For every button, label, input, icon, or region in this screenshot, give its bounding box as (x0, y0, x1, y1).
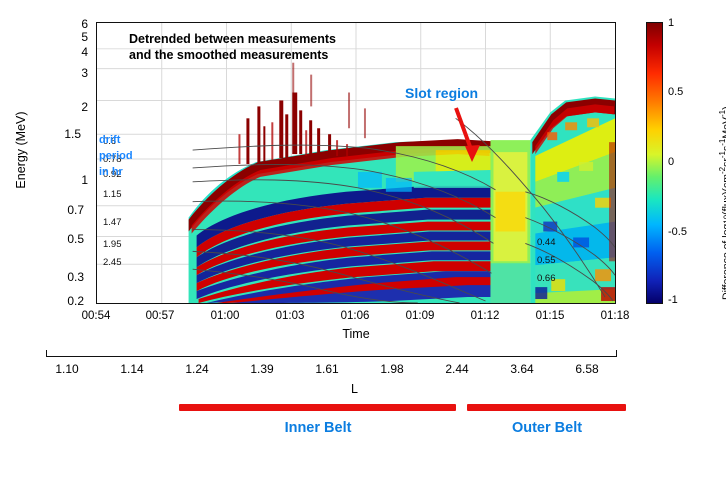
contour-label: 2.45 (103, 257, 122, 268)
colorbar-tick-label: 1 (668, 17, 674, 29)
l-tick-label: 1.98 (367, 362, 417, 376)
contour-label: 0.66 (537, 273, 556, 284)
x-tick-label: 01:06 (328, 310, 382, 322)
colorbar-title-text5: MeV (721, 117, 726, 139)
contour-label: 0.55 (537, 255, 556, 266)
y-tick-label: 6 (48, 17, 88, 31)
colorbar-title-exp4: -1 (718, 110, 726, 117)
colorbar-title-text4: s (721, 146, 726, 151)
colorbar-title-exp1: -2 (718, 167, 726, 174)
y-tick-label: 2 (48, 100, 88, 114)
x-tick-label: 01:12 (458, 310, 512, 322)
heatmap-plot: 0.6 0.78 0.92 1.15 1.47 1.95 2.45 0.44 0… (96, 22, 616, 304)
slot-region-label: Slot region (405, 85, 478, 101)
y-tick-label: 5 (48, 30, 88, 44)
x-tick-label: 00:54 (69, 310, 123, 322)
y-tick-label: 0.3 (44, 270, 84, 284)
l-axis-label: L (351, 382, 358, 396)
l-tick-label: 3.64 (497, 362, 547, 376)
x-axis-label: Time (329, 327, 383, 341)
contour-label: 1.15 (103, 189, 122, 200)
y-tick-label: 0.7 (44, 203, 84, 217)
x-tick-label: 01:18 (588, 310, 642, 322)
drift-period-note-line2: period (99, 149, 133, 163)
drift-period-note-line3: in hr (99, 165, 123, 179)
outer-belt-bar (467, 404, 626, 411)
l-axis-end-tick-right (616, 350, 617, 357)
l-tick-label: 1.24 (172, 362, 222, 376)
colorbar-tick-label: 0 (668, 156, 674, 168)
x-tick-label: 01:09 (393, 310, 447, 322)
contour-label: 0.44 (537, 237, 556, 248)
y-tick-label: 0.2 (44, 294, 84, 308)
l-tick-label: 6.58 (562, 362, 612, 376)
colorbar-tick-label: -1 (668, 294, 678, 306)
x-tick-label: 00:57 (133, 310, 187, 322)
l-axis-end-tick-left (46, 350, 47, 357)
l-tick-label: 1.10 (42, 362, 92, 376)
colorbar-title-exp2: -1 (718, 151, 726, 158)
colorbar-gradient (647, 23, 662, 303)
drift-period-note-line1: drift (99, 133, 120, 147)
y-axis-label: Energy (MeV) (14, 70, 28, 230)
inner-belt-bar (179, 404, 456, 411)
colorbar-title-text3: sr (721, 158, 726, 167)
colorbar-title-sub: 10 (723, 215, 726, 224)
l-tick-label: 2.44 (432, 362, 482, 376)
figure-root: Energy (MeV) 6 5 4 3 2 1.5 1 0.7 0.5 0.3… (0, 0, 726, 487)
x-tick-label: 01:00 (198, 310, 252, 322)
inner-belt-label: Inner Belt (230, 420, 406, 436)
y-tick-label: 0.5 (44, 232, 84, 246)
colorbar-tick-label: 0.5 (668, 86, 683, 98)
plot-annotation-title-line1: Detrended between measurements (129, 31, 336, 48)
l-tick-label: 1.14 (107, 362, 157, 376)
l-tick-label: 1.39 (237, 362, 287, 376)
colorbar-title-text2: (flux)(cm (721, 174, 726, 215)
colorbar-axis-title: Difference of log10(flux)(cm-2sr-1s-1MeV… (718, 106, 726, 300)
l-tick-label: 1.61 (302, 362, 352, 376)
x-tick-label: 01:03 (263, 310, 317, 322)
y-tick-label: 4 (48, 45, 88, 59)
colorbar-title-exp3: -1 (718, 139, 726, 146)
plot-annotation-title-line2: and the smoothed measurements (129, 47, 328, 64)
x-tick-label: 01:15 (523, 310, 577, 322)
colorbar-title-text6: ) (721, 106, 726, 110)
y-tick-label: 3 (48, 66, 88, 80)
colorbar-tick-label: -0.5 (668, 226, 687, 238)
contour-label: 1.95 (103, 239, 122, 250)
y-tick-label: 1.5 (41, 127, 81, 141)
outer-belt-label: Outer Belt (466, 420, 628, 436)
colorbar (646, 22, 663, 304)
y-tick-label: 1 (48, 173, 88, 187)
contour-label: 1.47 (103, 217, 122, 228)
l-axis-line (46, 356, 616, 357)
colorbar-title-text: Difference of log (721, 224, 726, 300)
